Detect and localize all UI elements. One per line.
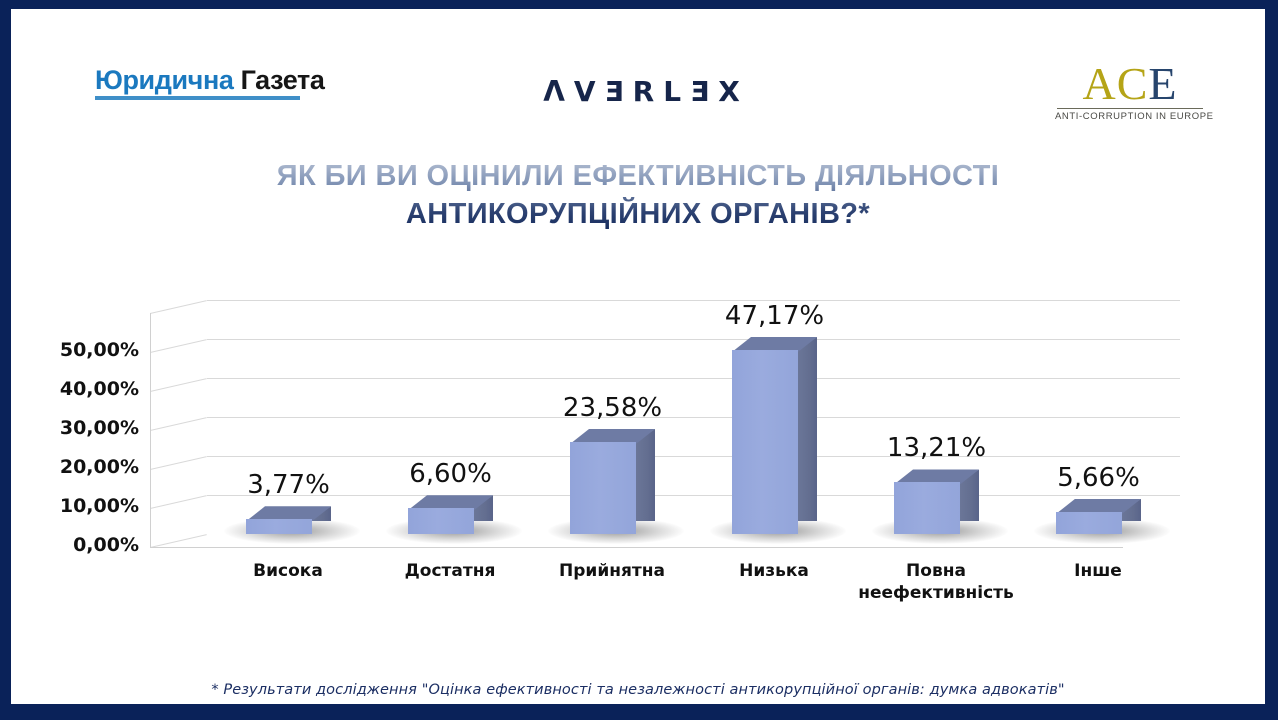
footnote: * Результати дослідження "Оцінка ефектив…	[11, 682, 1265, 698]
bar-column[interactable]	[246, 506, 312, 534]
gridline	[207, 378, 1180, 379]
bar-side-face	[636, 429, 655, 521]
bar-value-label: 5,66%	[1006, 463, 1191, 493]
bar-front-face	[732, 350, 798, 534]
bar-column[interactable]	[894, 469, 960, 534]
bar-value-label: 23,58%	[520, 393, 705, 423]
y-tick-label: 40,00%	[11, 378, 139, 400]
bar-front-face	[408, 508, 474, 534]
gridline	[207, 339, 1180, 340]
bar-chart-3d: 0,00%10,00%20,00%30,00%40,00%50,00% 3,77…	[11, 9, 1265, 704]
bar-column[interactable]	[732, 337, 798, 534]
category-label: Інше	[1007, 560, 1189, 582]
bar-value-label: 3,77%	[196, 470, 381, 500]
depth-connector-top	[150, 300, 207, 314]
bar-column[interactable]	[570, 429, 636, 534]
bar-front-face	[246, 519, 312, 534]
gridline	[207, 456, 1180, 457]
category-label: Висока	[197, 560, 379, 582]
depth-connector	[150, 417, 207, 431]
bar-column[interactable]	[408, 495, 474, 534]
category-label: Низька	[683, 560, 865, 582]
y-tick-label: 50,00%	[11, 339, 139, 361]
bar-value-label: 6,60%	[358, 459, 543, 489]
x-axis-line	[150, 547, 1123, 548]
y-tick-label: 10,00%	[11, 495, 139, 517]
depth-connector	[150, 534, 207, 548]
bar-column[interactable]	[1056, 499, 1122, 534]
category-label: Достатня	[359, 560, 541, 582]
depth-connector	[150, 378, 207, 392]
bar-side-face	[798, 337, 817, 521]
y-tick-label: 0,00%	[11, 534, 139, 556]
bar-front-face	[894, 482, 960, 534]
depth-connector	[150, 456, 207, 470]
bar-value-label: 47,17%	[682, 301, 867, 331]
bar-value-label: 13,21%	[844, 433, 1029, 463]
y-tick-label: 20,00%	[11, 456, 139, 478]
y-axis-line	[150, 313, 151, 547]
depth-connector	[150, 339, 207, 353]
bar-front-face	[1056, 512, 1122, 534]
category-label: Прийнятна	[521, 560, 703, 582]
category-label: Повнанеефективність	[845, 560, 1027, 604]
slide-canvas: Юридична Газета ΛVƎRLƎX ACE ANTI-CORRUPT…	[11, 9, 1265, 704]
y-tick-label: 30,00%	[11, 417, 139, 439]
bar-front-face	[570, 442, 636, 534]
